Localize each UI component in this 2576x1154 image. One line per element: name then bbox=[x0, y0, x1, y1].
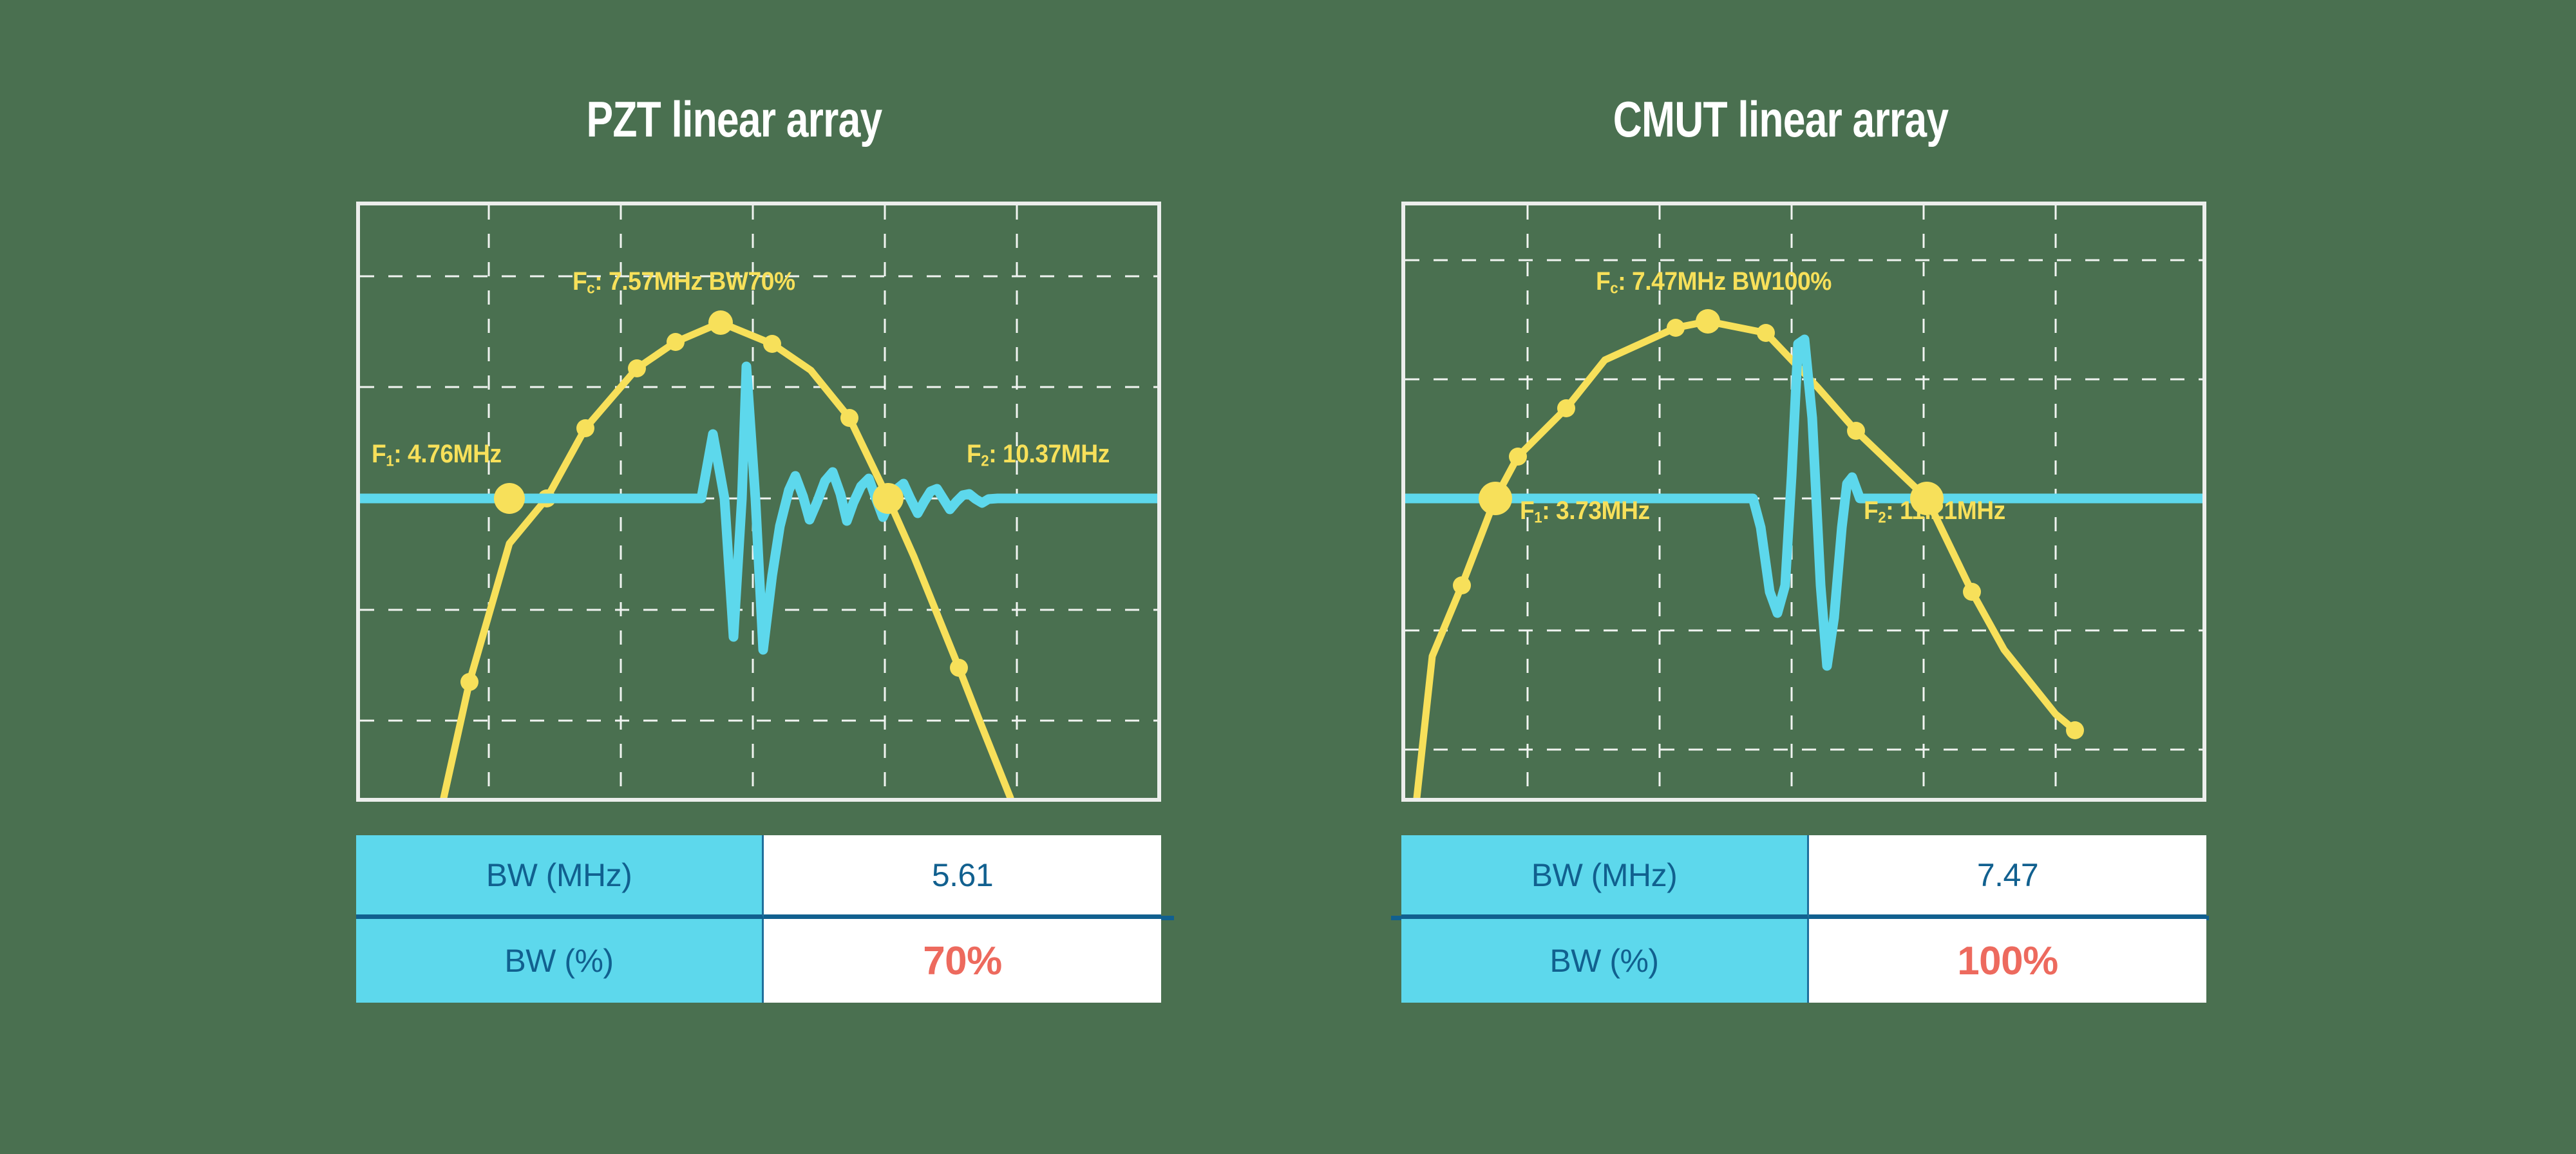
page-title-pzt: PZT linear array bbox=[307, 90, 1162, 149]
panel-pzt: PZT linear array bbox=[200, 0, 1269, 1154]
cutoff-markers bbox=[1479, 309, 1944, 515]
figure-canvas: PZT linear array bbox=[0, 0, 2576, 1154]
curve-markers bbox=[1453, 319, 2084, 739]
panel-cmut: CMUT linear array bbox=[1246, 0, 2315, 1154]
chart-frame-pzt: Fc: 7.57MHz BW70% F1: 4.76MHz F2: 10.37M… bbox=[356, 202, 1161, 802]
annotation-f1-cmut: F1: 3.73MHz bbox=[1520, 497, 1650, 527]
bw-table-cmut: BW (MHz) 7.47 BW (%) 100% bbox=[1401, 835, 2206, 1003]
pulse-echo-waveform bbox=[360, 366, 1157, 650]
annotation-f1-pzt: F1: 4.76MHz bbox=[372, 440, 502, 470]
frequency-response-curve bbox=[1417, 321, 2075, 798]
page-title-cmut: CMUT linear array bbox=[1353, 90, 2208, 149]
table-row-label-bw-pct: BW (%) bbox=[356, 919, 764, 1003]
marker-f1 bbox=[1479, 482, 1512, 515]
annotation-f2-pzt: F2: 10.37MHz bbox=[967, 440, 1110, 470]
annotation-fc-pzt: Fc: 7.57MHz BW70% bbox=[573, 267, 795, 298]
chart-plot-area-cmut: Fc: 7.47MHz BW100% F1: 3.73MHz F2: 11.21… bbox=[1405, 205, 2202, 798]
table-row-label-bw-mhz: BW (MHz) bbox=[356, 835, 764, 919]
bw-table-pzt: BW (MHz) 5.61 BW (%) 70% bbox=[356, 835, 1161, 1003]
table-row-value-bw-mhz: 7.47 bbox=[1809, 835, 2206, 919]
table-row-label-bw-mhz: BW (MHz) bbox=[1401, 835, 1809, 919]
table-row-label-bw-pct: BW (%) bbox=[1401, 919, 1809, 1003]
table-row-value-bw-mhz: 5.61 bbox=[764, 835, 1161, 919]
chart-frame-cmut: Fc: 7.47MHz BW100% F1: 3.73MHz F2: 11.21… bbox=[1401, 202, 2206, 802]
marker-fc bbox=[708, 310, 733, 335]
annotation-fc-cmut: Fc: 7.47MHz BW100% bbox=[1596, 267, 1832, 298]
chart-plot-area-pzt: Fc: 7.57MHz BW70% F1: 4.76MHz F2: 10.37M… bbox=[360, 205, 1157, 798]
table-row-value-bw-pct: 100% bbox=[1809, 919, 2206, 1003]
table-row-value-bw-pct: 70% bbox=[764, 919, 1161, 1003]
marker-f2 bbox=[873, 483, 904, 514]
annotation-f2-cmut: F2: 11.21MHz bbox=[1864, 497, 2005, 527]
marker-f1 bbox=[494, 483, 525, 514]
marker-fc bbox=[1696, 309, 1720, 334]
